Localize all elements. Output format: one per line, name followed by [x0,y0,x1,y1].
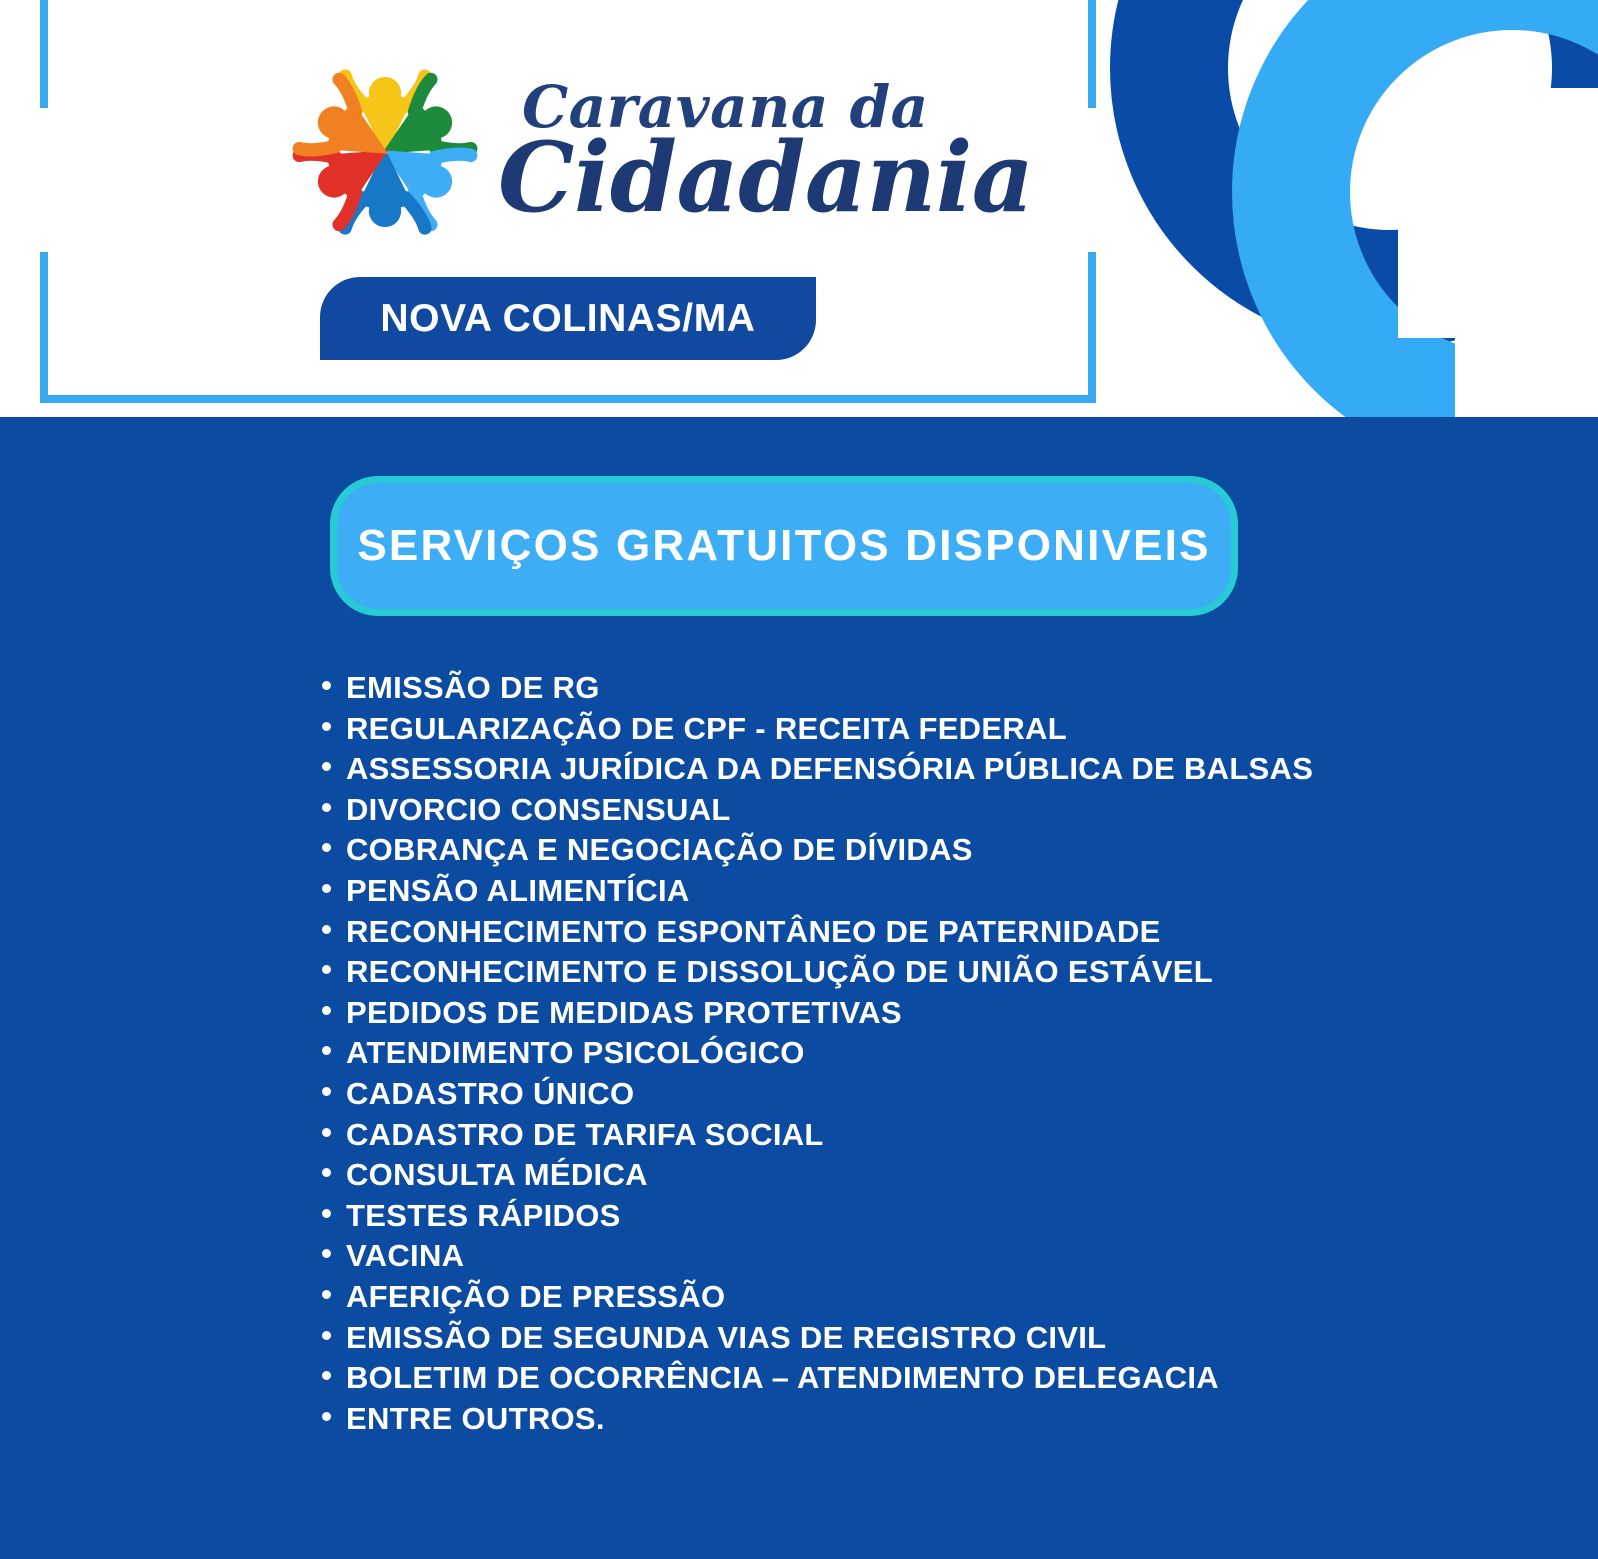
services-list: EMISSÃO DE RGREGULARIZAÇÃO DE CPF - RECE… [322,668,1502,1439]
poster-root: Caravana da Cidadania NOVA COLINAS/MA SE… [0,0,1598,1559]
service-list-item: REGULARIZAÇÃO DE CPF - RECEITA FEDERAL [322,709,1502,750]
frame-line-right-bottom [1088,252,1096,403]
pinwheel-people-logo-icon [290,57,480,247]
service-list-item-label: ATENDIMENTO PSICOLÓGICO [346,1033,805,1074]
bullet-dot-icon [322,1006,331,1015]
bullet-dot-icon [322,762,331,771]
services-banner: SERVIÇOS GRATUITOS DISPONIVEIS [330,476,1238,616]
service-list-item: ASSESSORIA JURÍDICA DA DEFENSÓRIA PÚBLIC… [322,749,1502,790]
service-list-item-label: PENSÃO ALIMENTÍCIA [346,871,690,912]
service-list-item-label: BOLETIM DE OCORRÊNCIA – ATENDIMENTO DELE… [346,1358,1219,1399]
service-list-item-label: EMISSÃO DE SEGUNDA VIAS DE REGISTRO CIVI… [346,1318,1106,1359]
bullet-dot-icon [322,965,331,974]
service-list-item-label: VACINA [346,1236,464,1277]
frame-line-left-top [40,0,48,108]
service-list-item: PENSÃO ALIMENTÍCIA [322,871,1502,912]
logo-wordmark: Caravana da Cidadania [498,78,1034,226]
bullet-dot-icon [322,843,331,852]
service-list-item-label: CONSULTA MÉDICA [346,1155,648,1196]
service-list-item: ENTRE OUTROS. [322,1399,1502,1440]
service-list-item-label: EMISSÃO DE RG [346,668,600,709]
service-list-item-label: DIVORCIO CONSENSUAL [346,790,731,831]
bullet-dot-icon [322,1331,331,1340]
service-list-item-label: AFERIÇÃO DE PRESSÃO [346,1277,725,1318]
service-list-item-label: TESTES RÁPIDOS [346,1196,621,1237]
service-list-item-label: COBRANÇA E NEGOCIAÇÃO DE DÍVIDAS [346,830,973,871]
frame-line-bottom [40,395,1096,403]
service-list-item: DIVORCIO CONSENSUAL [322,790,1502,831]
service-list-item: COBRANÇA E NEGOCIAÇÃO DE DÍVIDAS [322,830,1502,871]
services-banner-title: SERVIÇOS GRATUITOS DISPONIVEIS [357,521,1210,571]
service-list-item-label: RECONHECIMENTO ESPONTÂNEO DE PATERNIDADE [346,912,1161,953]
service-list-item: RECONHECIMENTO E DISSOLUÇÃO DE UNIÃO EST… [322,952,1502,993]
bullet-dot-icon [322,884,331,893]
service-list-item-label: REGULARIZAÇÃO DE CPF - RECEITA FEDERAL [346,709,1067,750]
service-list-item-label: RECONHECIMENTO E DISSOLUÇÃO DE UNIÃO EST… [346,952,1213,993]
logo-script-main: Cidadania [498,130,1034,226]
bullet-dot-icon [322,1249,331,1258]
bullet-dot-icon [322,722,331,731]
service-list-item: CADASTRO ÚNICO [322,1074,1502,1115]
service-list-item: EMISSÃO DE SEGUNDA VIAS DE REGISTRO CIVI… [322,1318,1502,1359]
service-list-item: CADASTRO DE TARIFA SOCIAL [322,1115,1502,1156]
logo-block: Caravana da Cidadania [290,52,950,252]
decorative-white-wedge [1455,300,1598,417]
service-list-item: AFERIÇÃO DE PRESSÃO [322,1277,1502,1318]
bullet-dot-icon [322,1046,331,1055]
service-list-item-label: ENTRE OUTROS. [346,1399,605,1440]
bullet-dot-icon [322,1128,331,1137]
bullet-dot-icon [322,803,331,812]
frame-line-right-top [1088,0,1096,108]
service-list-item-label: CADASTRO ÚNICO [346,1074,634,1115]
frame-line-left-bottom [40,252,48,403]
bullet-dot-icon [322,925,331,934]
service-list-item: RECONHECIMENTO ESPONTÂNEO DE PATERNIDADE [322,912,1502,953]
bullet-dot-icon [322,1290,331,1299]
service-list-item: BOLETIM DE OCORRÊNCIA – ATENDIMENTO DELE… [322,1358,1502,1399]
service-list-item: VACINA [322,1236,1502,1277]
bullet-dot-icon [322,681,331,690]
service-list-item-label: ASSESSORIA JURÍDICA DA DEFENSÓRIA PÚBLIC… [346,749,1313,790]
city-badge: NOVA COLINAS/MA [320,277,816,360]
bullet-dot-icon [322,1168,331,1177]
service-list-item: EMISSÃO DE RG [322,668,1502,709]
bullet-dot-icon [322,1209,331,1218]
service-list-item: ATENDIMENTO PSICOLÓGICO [322,1033,1502,1074]
service-list-item: TESTES RÁPIDOS [322,1196,1502,1237]
service-list-item: PEDIDOS DE MEDIDAS PROTETIVAS [322,993,1502,1034]
header-band: Caravana da Cidadania NOVA COLINAS/MA [0,0,1598,417]
service-list-item-label: CADASTRO DE TARIFA SOCIAL [346,1115,824,1156]
bullet-dot-icon [322,1087,331,1096]
city-badge-label: NOVA COLINAS/MA [380,297,755,341]
bullet-dot-icon [322,1412,331,1421]
bullet-dot-icon [322,1371,331,1380]
service-list-item: CONSULTA MÉDICA [322,1155,1502,1196]
service-list-item-label: PEDIDOS DE MEDIDAS PROTETIVAS [346,993,902,1034]
